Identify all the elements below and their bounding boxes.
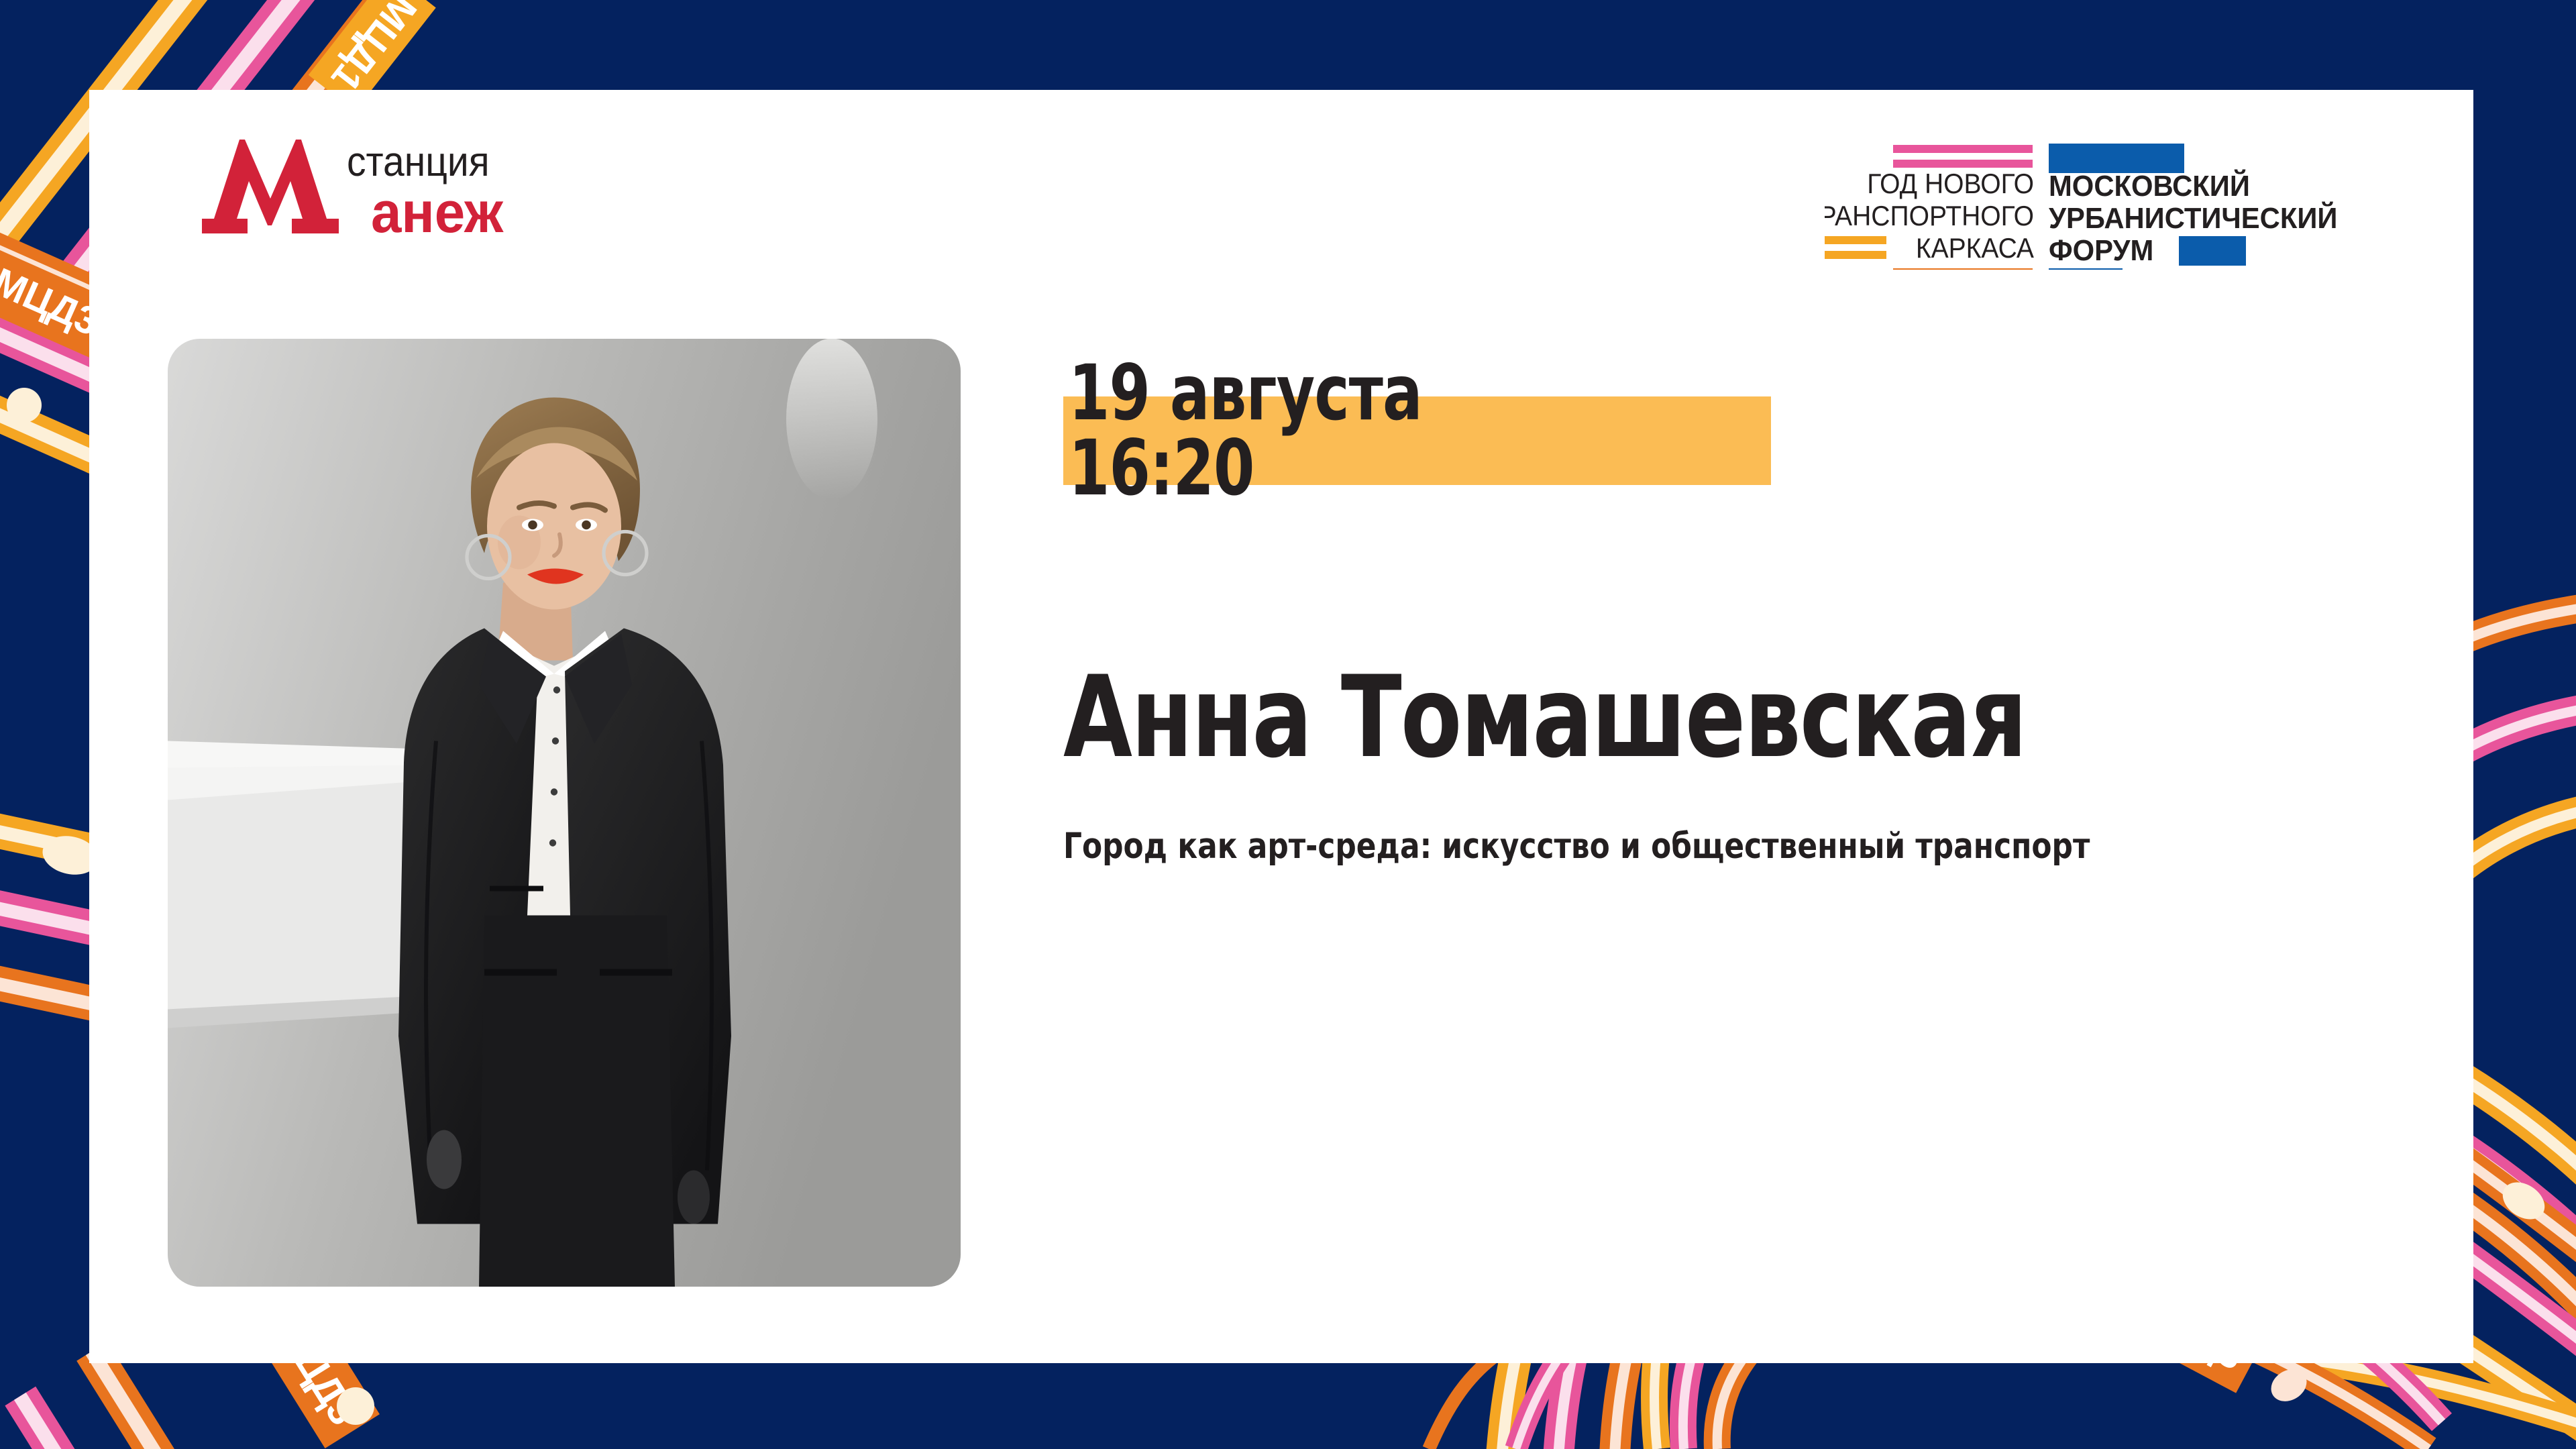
event-datetime-block: 19 августа 16:20 bbox=[1063, 356, 2405, 570]
svg-text:МОСКОВСКИЙ: МОСКОВСКИЙ bbox=[2049, 169, 2250, 203]
forum-bars-orange bbox=[1893, 268, 2033, 270]
talk-title: Город как арт-среда: искусство и обществ… bbox=[1063, 826, 2090, 867]
forum-bars-amber bbox=[1825, 236, 1886, 259]
svg-text:УРБАНИСТИЧЕСКИЙ: УРБАНИСТИЧЕСКИЙ bbox=[2049, 201, 2337, 235]
event-datetime: 19 августа 16:20 bbox=[1069, 356, 1422, 505]
svg-text:КАРКАСА: КАРКАСА bbox=[1916, 232, 2034, 264]
svg-text:ГОД НОВОГО: ГОД НОВОГО bbox=[1867, 168, 2034, 200]
svg-text:станция: станция bbox=[347, 138, 490, 185]
speaker-name: Анна Томашевская bbox=[1063, 661, 2026, 773]
svg-text:ТРАНСПОРТНОГО: ТРАНСПОРТНОГО bbox=[1825, 200, 2034, 232]
poster-canvas: МЦД1 МЦД3 bbox=[0, 0, 2576, 1449]
forum-logo: ГОД НОВОГО ТРАНСПОРТНОГО КАРКАСА МОСКОВС… bbox=[1825, 142, 2415, 270]
forum-bars-pink bbox=[1893, 145, 2033, 168]
speaker-portrait bbox=[168, 339, 961, 1287]
svg-text:ФОРУМ: ФОРУМ bbox=[2049, 234, 2153, 267]
metro-m-icon bbox=[202, 140, 339, 233]
venue-logo: станция анеж bbox=[198, 134, 600, 241]
svg-text:анеж: анеж bbox=[371, 180, 504, 241]
